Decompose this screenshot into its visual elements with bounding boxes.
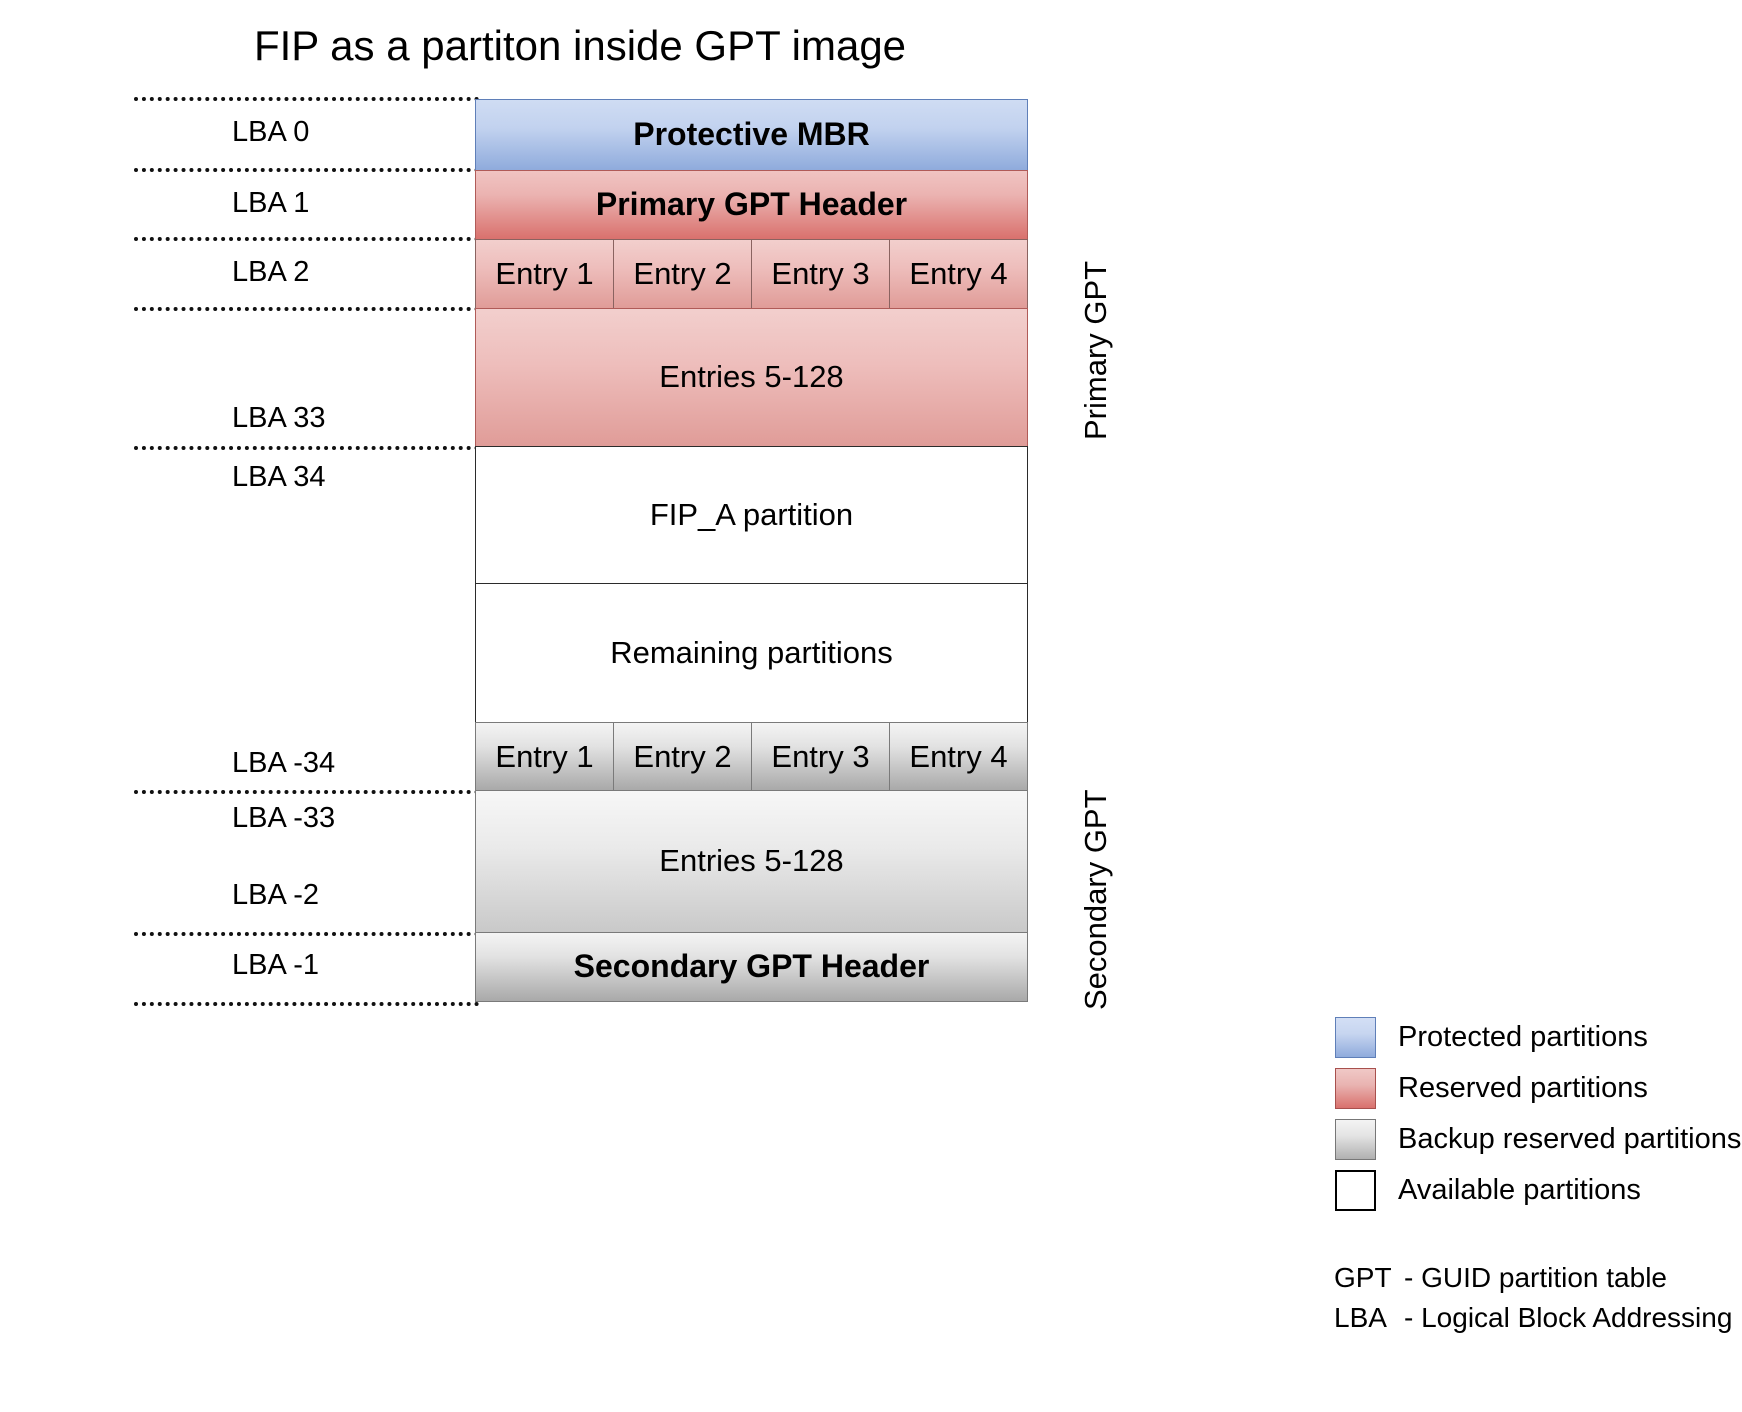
legend-item: Available partitions bbox=[1335, 1165, 1735, 1216]
dotted-guide-line bbox=[134, 237, 479, 241]
block-secondary-gpt-header: Secondary GPT Header bbox=[475, 932, 1028, 1002]
lba-label: LBA 0 bbox=[232, 117, 309, 147]
legend-swatch bbox=[1335, 1017, 1376, 1058]
partition-block-stack: Protective MBRPrimary GPT HeaderEntry 1E… bbox=[475, 99, 1028, 1002]
lba-label: LBA -33 bbox=[232, 803, 335, 833]
lba-label: LBA -34 bbox=[232, 748, 335, 778]
abbreviation-value: - GUID partition table bbox=[1404, 1262, 1667, 1294]
abbreviation-value: - Logical Block Addressing bbox=[1404, 1302, 1732, 1334]
block-remaining-partitions: Remaining partitions bbox=[475, 583, 1028, 723]
page-title: FIP as a partiton inside GPT image bbox=[0, 22, 1160, 70]
dotted-guide-line bbox=[134, 168, 479, 172]
dotted-guide-line bbox=[134, 307, 479, 311]
entry-cell: Entry 1 bbox=[475, 722, 614, 791]
legend-label: Protected partitions bbox=[1398, 1021, 1648, 1054]
side-label-secondary-gpt: Secondary GPT bbox=[1078, 789, 1114, 1010]
entry-cell: Entry 4 bbox=[889, 722, 1028, 791]
abbreviation-key: LBA bbox=[1334, 1302, 1404, 1334]
lba-label: LBA 1 bbox=[232, 188, 309, 218]
block-label: Protective MBR bbox=[633, 117, 870, 152]
block-label: Primary GPT Header bbox=[596, 187, 907, 222]
lba-label: LBA 33 bbox=[232, 403, 326, 433]
entry-cell: Entry 2 bbox=[613, 239, 752, 309]
legend-label: Backup reserved partitions bbox=[1398, 1123, 1741, 1156]
block-primary-entries-5-128: Entries 5-128 bbox=[475, 308, 1028, 447]
legend-item: Backup reserved partitions bbox=[1335, 1114, 1735, 1165]
lba-label: LBA -2 bbox=[232, 880, 319, 910]
entry-cell: Entry 4 bbox=[889, 239, 1028, 309]
entry-cell: Entry 3 bbox=[751, 239, 890, 309]
side-label-primary-gpt: Primary GPT bbox=[1078, 261, 1114, 440]
block-label: Remaining partitions bbox=[610, 636, 893, 670]
block-label: Secondary GPT Header bbox=[574, 949, 930, 984]
block-protective-mbr: Protective MBR bbox=[475, 99, 1028, 171]
legend-item: Protected partitions bbox=[1335, 1012, 1735, 1063]
block-label: Entries 5-128 bbox=[659, 360, 843, 394]
block-fip-a-partition: FIP_A partition bbox=[475, 446, 1028, 584]
dotted-guide-line bbox=[134, 97, 479, 101]
lba-label: LBA 34 bbox=[232, 462, 326, 492]
gpt-layout-diagram: FIP as a partiton inside GPT image LBA 0… bbox=[0, 0, 1742, 1412]
dotted-guide-line bbox=[134, 446, 479, 450]
dotted-guide-line bbox=[134, 790, 479, 794]
entry-cell: Entry 2 bbox=[613, 722, 752, 791]
block-label: FIP_A partition bbox=[650, 498, 853, 532]
lba-label: LBA 2 bbox=[232, 257, 309, 287]
entry-cell: Entry 1 bbox=[475, 239, 614, 309]
legend-label: Available partitions bbox=[1398, 1174, 1641, 1207]
abbreviation-row: LBA- Logical Block Addressing bbox=[1334, 1302, 1742, 1342]
legend: Protected partitionsReserved partitionsB… bbox=[1335, 1012, 1735, 1216]
legend-item: Reserved partitions bbox=[1335, 1063, 1735, 1114]
block-primary-gpt-header: Primary GPT Header bbox=[475, 170, 1028, 240]
abbreviation-key: GPT bbox=[1334, 1262, 1404, 1294]
block-label: Entries 5-128 bbox=[659, 844, 843, 878]
block-secondary-entries-5-128: Entries 5-128 bbox=[475, 790, 1028, 933]
primary-entry-row: Entry 1Entry 2Entry 3Entry 4 bbox=[475, 239, 1028, 309]
entry-cell: Entry 3 bbox=[751, 722, 890, 791]
legend-label: Reserved partitions bbox=[1398, 1072, 1648, 1105]
dotted-guide-line bbox=[134, 1002, 479, 1006]
lba-label: LBA -1 bbox=[232, 950, 319, 980]
legend-swatch bbox=[1335, 1170, 1376, 1211]
legend-swatch bbox=[1335, 1119, 1376, 1160]
secondary-entry-row: Entry 1Entry 2Entry 3Entry 4 bbox=[475, 722, 1028, 791]
dotted-guide-line bbox=[134, 932, 479, 936]
abbreviation-list: GPT- GUID partition tableLBA- Logical Bl… bbox=[1334, 1262, 1742, 1342]
abbreviation-row: GPT- GUID partition table bbox=[1334, 1262, 1742, 1302]
legend-swatch bbox=[1335, 1068, 1376, 1109]
